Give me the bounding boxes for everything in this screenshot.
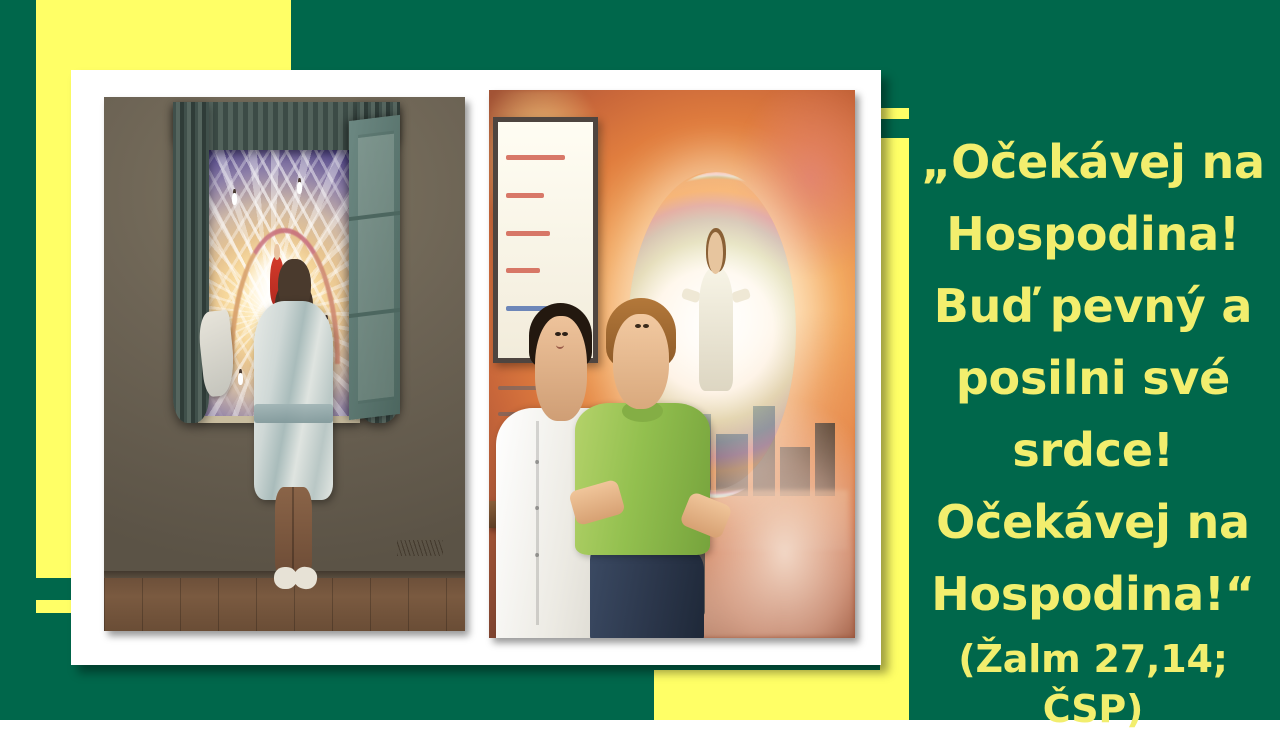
verse-reference: (Žalm 27,14; ČSP) [912, 634, 1274, 734]
verse-line: Očekávej na [912, 486, 1274, 558]
shirt-placket [536, 421, 539, 625]
accent-tick-left [36, 600, 71, 613]
open-window-sash [349, 115, 400, 420]
accent-bar-right-vertical [880, 138, 909, 720]
legs [275, 487, 311, 577]
accent-block-bottom [654, 670, 909, 720]
white-dress [254, 301, 333, 500]
dress-belt [254, 404, 333, 423]
woman-at-window [248, 263, 338, 583]
eye [555, 332, 561, 336]
verse-line: „Očekávej na [912, 126, 1274, 198]
board-writing-line [506, 231, 550, 236]
verse-body: „Očekávej na Hospodina! Buď pevný a posi… [912, 126, 1274, 630]
green-tshirt [575, 403, 710, 556]
verse-line: Hospodina! [912, 198, 1274, 270]
verse-line: srdce! [912, 414, 1274, 486]
angel-figure [232, 193, 237, 205]
student-figure [570, 320, 716, 638]
verse-text-block: „Očekávej na Hospodina! Buď pevný a posi… [912, 126, 1274, 734]
verse-line: Buď pevný a [912, 270, 1274, 342]
smile [556, 341, 564, 349]
head [613, 314, 669, 409]
angel-figure [297, 182, 302, 194]
artist-signature [397, 540, 443, 556]
eye [562, 332, 568, 336]
board-writing-line [506, 268, 540, 273]
painting-classroom-vision [489, 90, 855, 638]
painting-second-coming-window [104, 97, 465, 631]
board-writing-line [506, 155, 565, 160]
slide-canvas: „Očekávej na Hospodina! Buď pevný a posi… [0, 0, 1280, 720]
accent-bar-left-vertical [36, 200, 71, 578]
verse-line: posilni své [912, 342, 1274, 414]
board-writing-line [506, 193, 544, 198]
jeans [590, 543, 704, 638]
shirt-button [535, 553, 539, 557]
verse-line: Hospodina!“ [912, 558, 1274, 630]
eye [635, 324, 641, 328]
angel-figure [238, 373, 243, 385]
accent-tick-right [880, 108, 909, 119]
image-card [71, 70, 881, 665]
eye [643, 324, 649, 328]
